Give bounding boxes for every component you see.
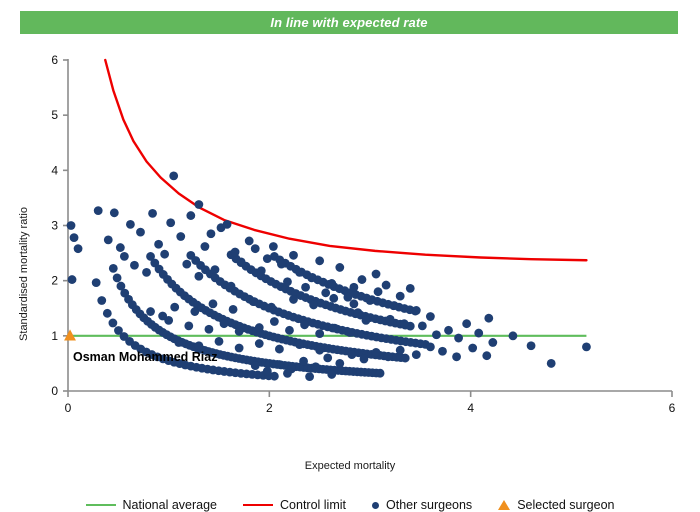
navy-dot-icon bbox=[372, 502, 379, 509]
svg-text:1: 1 bbox=[51, 329, 58, 343]
chart-legend: National averageControl limitOther surge… bbox=[0, 498, 700, 512]
svg-text:2: 2 bbox=[51, 274, 58, 288]
selected-surgeon-label: Osman Mohammed Riaz bbox=[73, 350, 217, 364]
funnel-plot-page: In line with expected rate 01234560246 O… bbox=[0, 0, 700, 500]
legend-item-label: Selected surgeon bbox=[517, 498, 614, 512]
axes-group bbox=[63, 59, 672, 397]
svg-text:6: 6 bbox=[669, 401, 676, 415]
svg-text:6: 6 bbox=[51, 53, 58, 67]
svg-text:2: 2 bbox=[266, 401, 273, 415]
control-limit-curve bbox=[105, 60, 586, 260]
y-axis-title: Standardised mortality ratio bbox=[18, 174, 30, 374]
svg-text:0: 0 bbox=[51, 384, 58, 398]
legend-item-label: National average bbox=[123, 498, 218, 512]
legend-item-label: Other surgeons bbox=[386, 498, 472, 512]
orange-triangle-icon bbox=[498, 500, 510, 510]
legend-item-other-surgeons[interactable]: Other surgeons bbox=[372, 498, 472, 512]
svg-text:0: 0 bbox=[65, 401, 72, 415]
legend-item-label: Control limit bbox=[280, 498, 346, 512]
funnel-plot-svg: 01234560246 bbox=[0, 40, 700, 445]
svg-text:3: 3 bbox=[51, 219, 58, 233]
status-banner-label: In line with expected rate bbox=[270, 15, 427, 30]
x-axis-title: Expected mortality bbox=[0, 460, 700, 472]
red-line-icon bbox=[243, 504, 273, 506]
svg-text:5: 5 bbox=[51, 108, 58, 122]
chart-container: 01234560246 Osman Mohammed Riaz Expected… bbox=[0, 40, 700, 445]
legend-item-selected-surgeon[interactable]: Selected surgeon bbox=[498, 498, 614, 512]
status-banner: In line with expected rate bbox=[20, 11, 678, 34]
svg-text:4: 4 bbox=[51, 163, 58, 177]
green-line-icon bbox=[86, 504, 116, 506]
legend-item-control-limit[interactable]: Control limit bbox=[243, 498, 346, 512]
svg-text:4: 4 bbox=[467, 401, 474, 415]
legend-item-national-average[interactable]: National average bbox=[86, 498, 218, 512]
